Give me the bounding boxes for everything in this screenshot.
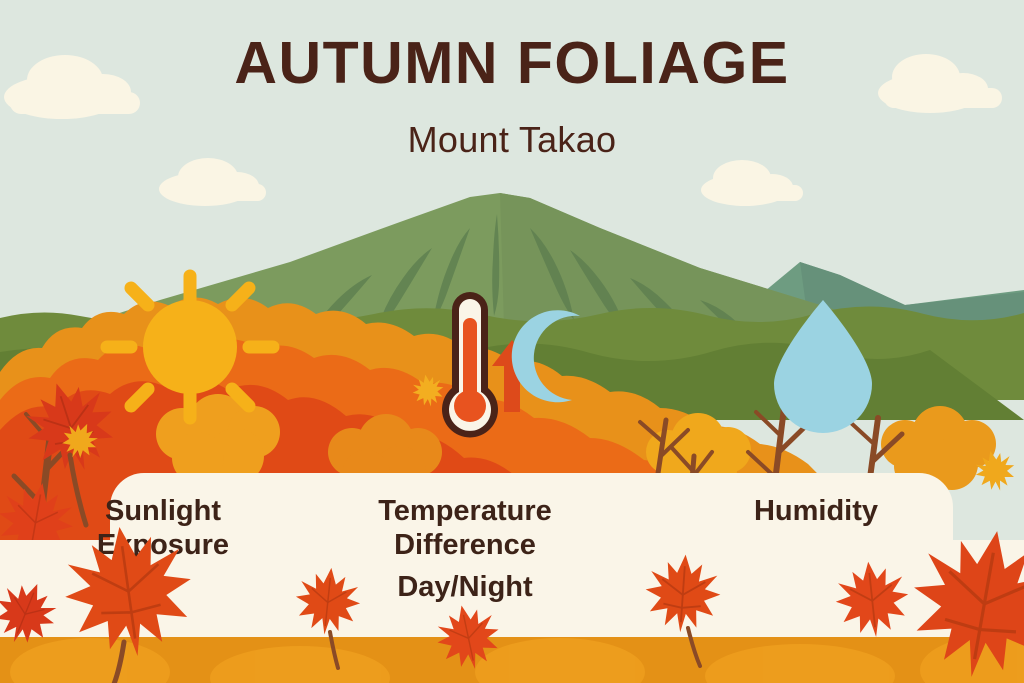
- maple-leaf: [0, 573, 65, 654]
- maple-leaves-front: [0, 0, 1024, 683]
- autumn-foliage-poster: Sunlight Exposure Temperature Difference…: [0, 0, 1024, 683]
- leaf-stem: [688, 628, 700, 666]
- maple-leaf: [643, 552, 723, 635]
- maple-leaf: [901, 519, 1024, 683]
- leaf-stem: [114, 642, 124, 683]
- leaf-stem: [330, 632, 338, 668]
- maple-leaf: [832, 558, 912, 641]
- maple-leaf: [431, 599, 506, 675]
- maple-leaf: [292, 565, 363, 638]
- maple-leaf: [57, 518, 201, 665]
